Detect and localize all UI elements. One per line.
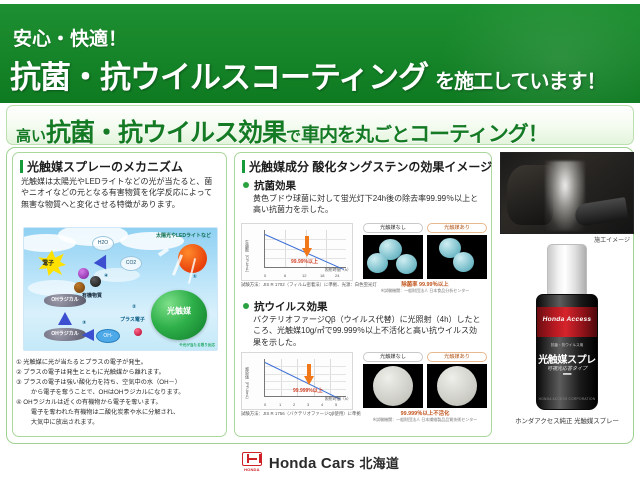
- mechanism-step-4-cont: 電子を奪われた有機物は二酸化炭素や水に分解され、: [16, 408, 221, 418]
- subtitle-part-5: コーティング！: [409, 123, 548, 145]
- antibacterial-xtick-2: 12: [302, 273, 306, 278]
- antibacterial-dish-off-label: 光触媒なし: [363, 223, 423, 233]
- bottle-brand-label: Honda Access: [537, 316, 597, 323]
- footer-bar: HONDA Honda Cars 北海道: [0, 452, 640, 480]
- bottle-sub-label: 抗菌・抗ウイルス用: [537, 343, 597, 348]
- antibacterial-chart-annotation: 99.99%以上: [291, 258, 318, 265]
- diagram-step-1: ①: [193, 274, 197, 280]
- bottle-cap: [547, 244, 587, 300]
- molecule-co2: CO2: [120, 256, 142, 271]
- antiviral-result: 99.999％以上不活化: [363, 409, 487, 417]
- antibacterial-xtick-1: 6: [284, 273, 286, 278]
- antibacterial-xtick-3: 18: [320, 273, 324, 278]
- sun-icon: 電子: [38, 250, 66, 276]
- photocatalyst-sphere-label: 光触媒: [167, 306, 191, 317]
- diagram-step-2: ②: [132, 304, 136, 310]
- antibacterial-xtick-0: 0: [264, 273, 266, 278]
- mechanism-panel-title: 光触媒スプレーのメカニズム: [20, 158, 183, 175]
- antiviral-chart: 99.999%以上 感染価（PFU/mL） 0 1 2 3 4 5 照射時間（h…: [241, 352, 353, 410]
- mechanism-step-2: ② プラスの電子は発生とともに光触媒から離れます。: [16, 368, 221, 378]
- diagram-step-4: ④: [104, 273, 108, 279]
- antibacterial-dish-on-label: 光触媒あり: [427, 223, 487, 233]
- mechanism-step-3-cont: から電子を奪うことで、OHはOHラジカルになります。: [16, 388, 221, 398]
- antibacterial-dish-off-image: [363, 235, 423, 279]
- antibacterial-chart-note: 試験方法：JIS R 1702（フィルム密着法）に準拠、光源：白色蛍光灯: [241, 282, 377, 288]
- antibacterial-dish-on-image: [427, 235, 487, 279]
- dealer-name: Honda Cars 北海道: [269, 453, 399, 472]
- antiviral-dish-on-image: [427, 364, 487, 408]
- bottle-variant: 可視光応答タイプ: [537, 365, 597, 372]
- antiviral-figures: 99.999%以上 感染価（PFU/mL） 0 1 2 3 4 5 照射時間（h…: [241, 352, 487, 416]
- subtitle-part-1: 高い: [16, 128, 46, 145]
- oh-radical-2: OHラジカル: [44, 328, 86, 341]
- header-tagline: 安心・快適！: [13, 24, 127, 51]
- antiviral-subnote: ※試験機関：一般財団法人 日本繊維製品品質技術センター: [363, 417, 487, 423]
- mechanism-step-4-cont2: 大気中に放出されます。: [16, 418, 221, 428]
- antibacterial-heading: 抗菌効果: [243, 178, 296, 193]
- light-label: 太陽光やLEDライトなど: [156, 232, 211, 239]
- spray-photo-caption: 施工イメージ: [500, 235, 634, 244]
- subtitle-text: 高い抗菌・抗ウイルス効果で車内を丸ごとコーティング！: [16, 113, 548, 145]
- antibacterial-chart-ylabel: 生菌数（CFU/mL）: [244, 240, 250, 275]
- antiviral-xtick-4: 4: [321, 402, 323, 407]
- antibacterial-chart: 99.99%以上 生菌数（CFU/mL） 0 6 12 18 24 照射時間（h…: [241, 223, 353, 281]
- plus-electron-label: プラス電子: [120, 316, 145, 323]
- antiviral-heading: 抗ウイルス効果: [243, 299, 328, 314]
- oh-ion-label: OH-: [96, 329, 120, 343]
- antibacterial-chart-xlabel: 照射時間（h）: [325, 267, 351, 273]
- header-title-main: 抗菌・抗ウイルスコーティング: [10, 60, 428, 95]
- bottle-footer-text: HONDA ACCESS CORPORATION: [537, 397, 597, 401]
- antiviral-dish-on: 光触媒あり: [427, 352, 487, 408]
- subtitle-band: 高い抗菌・抗ウイルス効果で車内を丸ごとコーティング！: [6, 105, 634, 145]
- antibacterial-chart-plot: 99.99%以上: [264, 230, 346, 268]
- diagram-step-3: ③: [82, 320, 86, 326]
- diagram-note: ※光が当たる限り反応: [179, 343, 215, 348]
- molecule-h2o: H2O: [92, 236, 114, 251]
- bottle-body: Honda Access 抗菌・抗ウイルス用 光触媒スプレー 可視光応答タイプ …: [536, 294, 598, 410]
- subtitle-part-3: で: [286, 128, 301, 145]
- honda-logo-word: HONDA: [241, 467, 263, 472]
- header-banner: 安心・快適！ 抗菌・抗ウイルスコーティングを施工しています！: [0, 4, 640, 103]
- header-title-tail: を施工しています！: [435, 71, 605, 93]
- dealer-name-en: Honda Cars: [269, 455, 360, 472]
- header-title: 抗菌・抗ウイルスコーティングを施工しています！: [10, 52, 606, 97]
- photocatalyst-diagram: 電子 太陽光やLEDライトなど ① H2O CO2 ④ 有機物質 OHラジカル …: [23, 227, 218, 351]
- antiviral-xtick-1: 1: [279, 402, 281, 407]
- mechanism-panel-body: 光触媒は太陽光やLEDライトなどの光が当たると、菌やニオイなどの元となる有害物質…: [21, 176, 217, 210]
- mechanism-step-1: ① 光触媒に光が当たるとプラスの電子が発生。: [16, 358, 221, 368]
- subtitle-part-4: 車内を丸ごと: [301, 125, 409, 145]
- antibacterial-dish-off: 光触媒なし: [363, 223, 423, 279]
- subtitle-part-2: 抗菌・抗ウイルス効果: [46, 119, 286, 145]
- antibacterial-result: 除菌率 99.99％以上: [363, 280, 487, 288]
- antibacterial-body: 黄色ブドウ球菌に対して蛍光灯下24h後の除去率99.99％以上と高い抗菌力を示し…: [253, 193, 485, 216]
- bottle-caption: ホンダアクセス純正 光触媒スプレー: [500, 416, 634, 425]
- dealer-name-jp: 北海道: [359, 456, 399, 471]
- antiviral-xtick-2: 2: [293, 402, 295, 407]
- product-bottle: Honda Access 抗菌・抗ウイルス用 光触媒スプレー 可視光応答タイプ …: [500, 244, 634, 424]
- antiviral-chart-plot: 99.999%以上: [264, 359, 346, 397]
- antiviral-xtick-5: 5: [335, 402, 337, 407]
- antiviral-dish-on-label: 光触媒あり: [427, 352, 487, 362]
- honda-logo-icon: HONDA: [241, 452, 263, 472]
- antiviral-dish-off-label: 光触媒なし: [363, 352, 423, 362]
- advertisement-page: 安心・快適！ 抗菌・抗ウイルスコーティングを施工しています！ 高い抗菌・抗ウイル…: [0, 0, 640, 480]
- antibacterial-figures: 99.99%以上 生菌数（CFU/mL） 0 6 12 18 24 照射時間（h…: [241, 223, 487, 287]
- antibacterial-subnote: ※試験機関：一般財団法人 日本食品分析センター: [363, 288, 487, 294]
- antiviral-dish-off: 光触媒なし: [363, 352, 423, 408]
- antiviral-xtick-3: 3: [307, 402, 309, 407]
- mechanism-step-3: ③ プラスの電子は強い酸化力を持ち、空気中の水（OH－）: [16, 378, 221, 388]
- effect-panel-title: 光触媒成分 酸化タングステンの効果イメージ: [242, 158, 492, 175]
- photocatalyst-sphere: 光触媒: [151, 290, 207, 340]
- antiviral-body: バクテリオファージQβ（ウイルス代替）に光照射（4h）したところ、光触媒10g/…: [253, 314, 485, 348]
- oh-radical-1: OHラジカル: [44, 294, 86, 307]
- mechanism-step-4: ④ OHラジカルは近くの有機物から電子を奪います。: [16, 398, 221, 408]
- mechanism-steps-list: ① 光触媒に光が当たるとプラスの電子が発生。 ② プラスの電子は発生とともに光触…: [16, 358, 221, 428]
- antibacterial-dish-on: 光触媒あり: [427, 223, 487, 279]
- antiviral-dish-off-image: [363, 364, 423, 408]
- spray-photo: [500, 152, 634, 234]
- antibacterial-xtick-4: 24: [335, 273, 339, 278]
- antiviral-chart-annotation: 99.999%以上: [293, 387, 323, 394]
- antiviral-chart-note: 試験方法：JIS R 1756（バクテリオファージQβ使用）に準拠: [241, 411, 361, 417]
- antiviral-chart-ylabel: 感染価（PFU/mL）: [244, 367, 250, 402]
- antiviral-chart-xlabel: 照射時間（h）: [325, 396, 351, 402]
- sun-label: 電子: [42, 258, 54, 267]
- antiviral-xtick-0: 0: [264, 402, 266, 407]
